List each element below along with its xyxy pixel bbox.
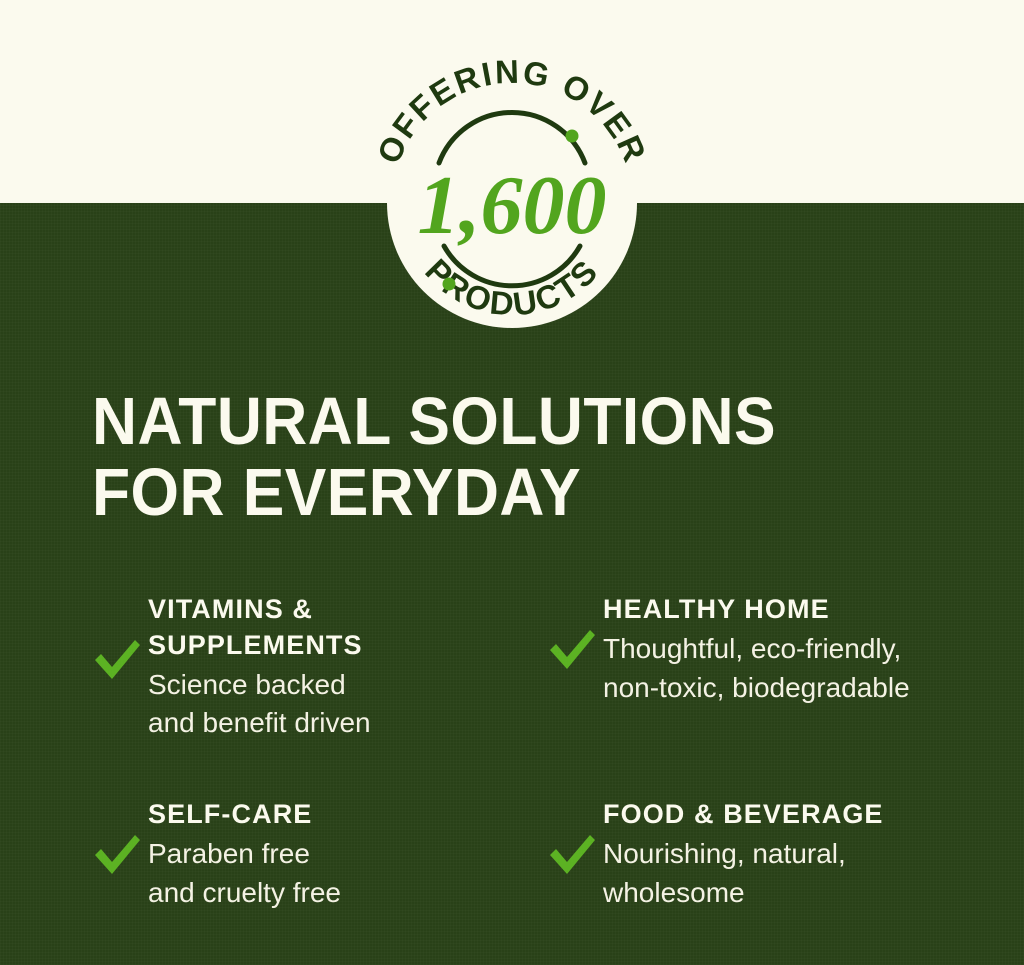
- feature-description-line: wholesome: [603, 874, 884, 913]
- page-title-line-2: FOR EVERYDAY: [92, 457, 910, 528]
- badge-product-count: 1,600: [418, 159, 607, 252]
- page-title-line-1: NATURAL SOLUTIONS: [92, 386, 910, 457]
- feature-description-line: non-toxic, biodegradable: [603, 669, 910, 708]
- feature-description-line: and cruelty free: [148, 874, 341, 913]
- badge-dot-left: [443, 278, 456, 291]
- feature-title-line: HEALTHY HOME: [603, 592, 910, 628]
- feature-title: SELF-CARE: [148, 797, 341, 833]
- feature-item-vitamins-supplements: VITAMINS & SUPPLEMENTS Science backed an…: [92, 592, 547, 797]
- check-icon: [547, 833, 597, 877]
- check-icon: [92, 638, 142, 682]
- feature-title-line: FOOD & BEVERAGE: [603, 797, 884, 833]
- feature-title-line: SELF-CARE: [148, 797, 341, 833]
- feature-description: Thoughtful, eco-friendly, non-toxic, bio…: [603, 630, 910, 707]
- feature-description: Science backed and benefit driven: [148, 666, 371, 743]
- check-icon: [92, 833, 142, 877]
- feature-grid: VITAMINS & SUPPLEMENTS Science backed an…: [92, 592, 992, 912]
- promo-banner: OFFERING OVER PRODUCTS 1,600 NATURAL SOL…: [0, 0, 1024, 965]
- feature-description-line: Nourishing, natural,: [603, 835, 884, 874]
- feature-title: FOOD & BEVERAGE: [603, 797, 884, 833]
- feature-description-line: Thoughtful, eco-friendly,: [603, 630, 910, 669]
- feature-title: HEALTHY HOME: [603, 592, 910, 628]
- page-title: NATURAL SOLUTIONS FOR EVERYDAY: [92, 386, 910, 528]
- feature-description-line: Science backed: [148, 666, 371, 705]
- feature-title: VITAMINS & SUPPLEMENTS: [148, 592, 371, 664]
- feature-title-line: SUPPLEMENTS: [148, 628, 371, 664]
- feature-item-food-beverage: FOOD & BEVERAGE Nourishing, natural, who…: [547, 797, 992, 912]
- badge-graphic: OFFERING OVER PRODUCTS 1,600: [327, 18, 697, 388]
- feature-description: Paraben free and cruelty free: [148, 835, 341, 912]
- check-icon: [547, 628, 597, 672]
- feature-description-line: and benefit driven: [148, 704, 371, 743]
- feature-item-self-care: SELF-CARE Paraben free and cruelty free: [92, 797, 547, 912]
- feature-description-line: Paraben free: [148, 835, 341, 874]
- feature-item-healthy-home: HEALTHY HOME Thoughtful, eco-friendly, n…: [547, 592, 992, 797]
- feature-description: Nourishing, natural, wholesome: [603, 835, 884, 912]
- badge-dot-right: [566, 130, 579, 143]
- badge-upper-rule-arc: [439, 112, 585, 163]
- feature-title-line: VITAMINS &: [148, 592, 371, 628]
- offering-over-products-badge: OFFERING OVER PRODUCTS 1,600: [387, 78, 637, 328]
